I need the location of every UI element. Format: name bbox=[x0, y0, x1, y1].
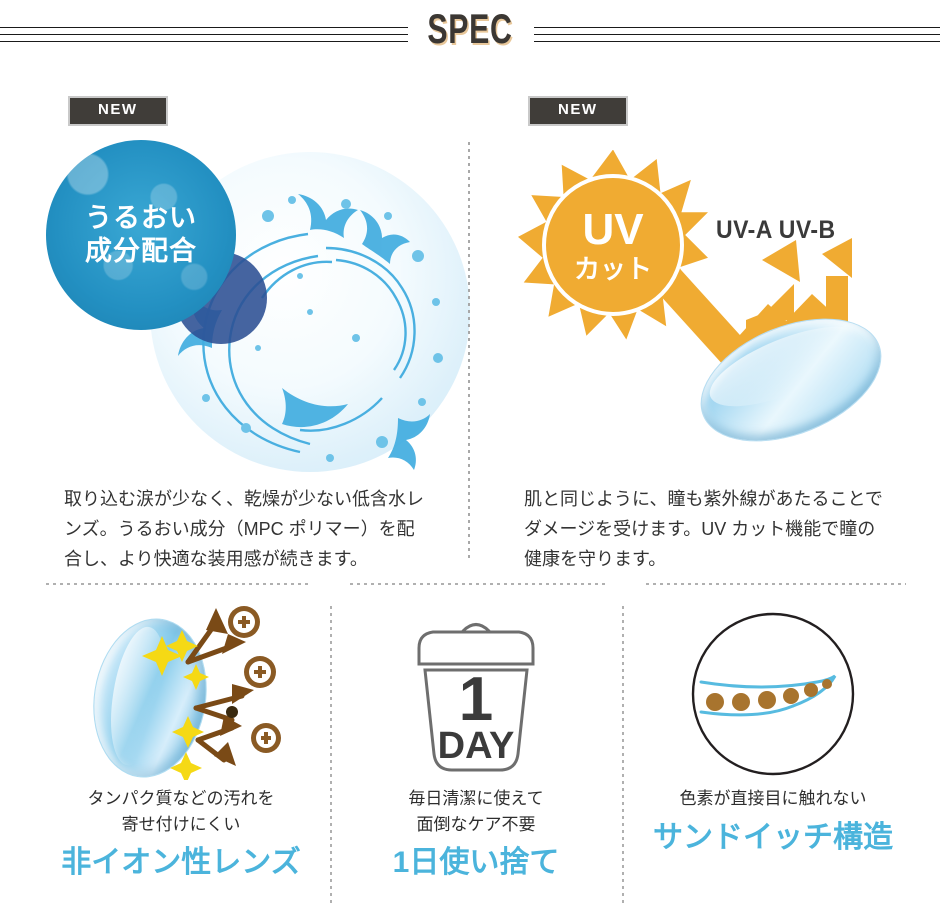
trash-can-icon: 1 DAY bbox=[381, 608, 571, 783]
sandwich-illustration bbox=[628, 600, 918, 780]
panel-one-day: 1 DAY 毎日清潔に使えて 面倒なケア不要 1日使い捨て bbox=[336, 600, 616, 881]
sandwich-structure-icon bbox=[683, 610, 863, 782]
spec-page: SPEC NEW bbox=[0, 0, 940, 917]
caption-uv: 肌と同じように、瞳も紫外線があたることでダメージを受けます。UV カット機能で瞳… bbox=[500, 484, 900, 575]
panel-moisture: NEW bbox=[40, 96, 440, 574]
sun-cut-label: カット bbox=[574, 256, 652, 282]
divider-vertical-top bbox=[468, 140, 470, 560]
uv-illustration: UV カット UV-A U bbox=[500, 134, 900, 474]
caption-moisture: 取り込む涙が少なく、乾燥が少ない低含水レンズ。うるおい成分（MPC ポリマー）を… bbox=[40, 484, 440, 575]
divider-horizontal-2 bbox=[348, 583, 608, 585]
one-day-illustration: 1 DAY bbox=[336, 600, 616, 780]
repelled-particles-icon bbox=[36, 600, 326, 780]
page-title: SPEC bbox=[132, 8, 809, 50]
page-header: SPEC bbox=[0, 0, 940, 78]
non-ionic-title: 非イオン性レンズ bbox=[36, 845, 326, 881]
panel-sandwich: 色素が直接目に触れない サンドイッチ構造 bbox=[628, 600, 918, 856]
sandwich-subtitle-line1: 色素が直接目に触れない bbox=[628, 786, 918, 812]
moisture-badge-line1: うるおい bbox=[85, 202, 197, 235]
badge-new-wrap-moisture: NEW bbox=[68, 96, 440, 126]
sandwich-subtitle: 色素が直接目に触れない bbox=[628, 786, 918, 812]
badge-new-uv: NEW bbox=[528, 96, 628, 126]
divider-vertical-bottom-2 bbox=[622, 604, 624, 904]
one-day-title: 1日使い捨て bbox=[336, 845, 616, 881]
non-ionic-subtitle-line2: 寄せ付けにくい bbox=[36, 812, 326, 838]
non-ionic-subtitle-line1: タンパク質などの汚れを bbox=[36, 786, 326, 812]
water-splash-illustration: うるおい 成分配合 bbox=[40, 134, 440, 474]
one-day-subtitle-line1: 毎日清潔に使えて bbox=[336, 786, 616, 812]
sandwich-title: サンドイッチ構造 bbox=[628, 820, 918, 856]
one-day-number: 1 bbox=[459, 665, 493, 734]
non-ionic-illustration bbox=[36, 600, 326, 780]
plus-particles bbox=[226, 606, 281, 753]
sun-ring: UV カット bbox=[542, 174, 684, 316]
one-day-subtitle: 毎日清潔に使えて 面倒なケア不要 bbox=[336, 786, 616, 837]
divider-horizontal-1 bbox=[44, 583, 312, 585]
divider-vertical-bottom-1 bbox=[330, 604, 332, 904]
badge-new-moisture: NEW bbox=[68, 96, 168, 126]
one-day-subtitle-line2: 面倒なケア不要 bbox=[336, 812, 616, 838]
one-day-unit: DAY bbox=[438, 725, 515, 767]
moisture-badge-line2: 成分配合 bbox=[85, 235, 197, 268]
panel-uv: NEW UV カット bbox=[500, 96, 900, 574]
non-ionic-subtitle: タンパク質などの汚れを 寄せ付けにくい bbox=[36, 786, 326, 837]
uv-ab-label: UV-A UV-B bbox=[716, 216, 836, 245]
badge-new-wrap-uv: NEW bbox=[528, 96, 900, 126]
sun-icon: UV カット bbox=[518, 150, 708, 340]
moisture-badge-circle: うるおい 成分配合 bbox=[46, 140, 236, 330]
panel-non-ionic: タンパク質などの汚れを 寄せ付けにくい 非イオン性レンズ bbox=[36, 600, 326, 881]
divider-horizontal-3 bbox=[644, 583, 906, 585]
sun-uv-label: UV bbox=[582, 208, 643, 252]
